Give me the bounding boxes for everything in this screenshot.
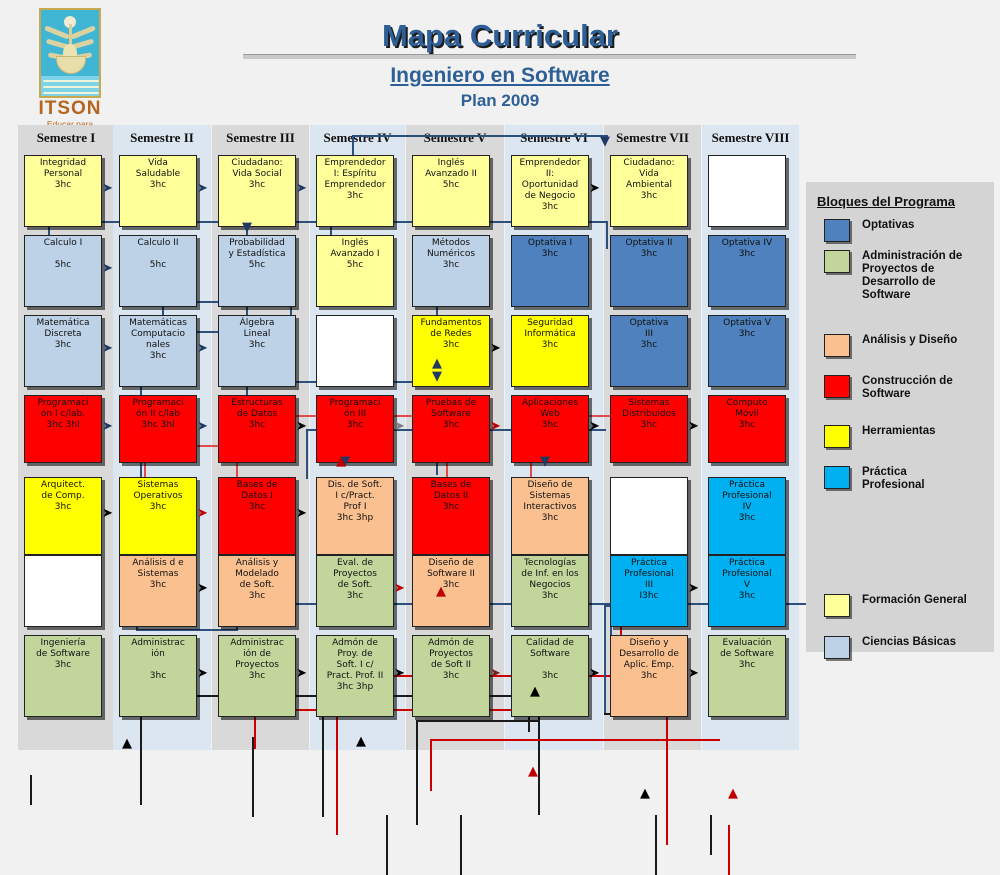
course-name: Diseño yDesarrollo deAplic. Emp.3hc	[611, 638, 687, 682]
course-name: VidaSaludable3hc	[120, 158, 196, 191]
course-box[interactable]: SeguridadInformática3hc	[511, 315, 589, 387]
flow-arrow-right: ➤	[490, 420, 501, 433]
semester-header-4: Semestre IV	[310, 125, 405, 150]
flow-arrow-right: ➤	[394, 667, 405, 680]
flow-arrow-right: ➤	[688, 667, 699, 680]
flow-arrow-right: ➤	[490, 667, 501, 680]
course-box[interactable]: Bases deDatos I3hc	[218, 477, 296, 555]
course-name: PrácticaProfesionalIV3hc	[709, 480, 785, 524]
course-name: SistemasDistribuidos3hc	[611, 398, 687, 431]
flow-arrow-right: ➤	[197, 667, 208, 680]
course-name: SistemasOperativos3hc	[120, 480, 196, 513]
course-box[interactable]: Administración deProyectos3hc	[218, 635, 296, 717]
flow-arrow-vertical: ▲	[640, 787, 650, 800]
connector-line	[430, 739, 720, 741]
connector-line	[606, 221, 608, 249]
course-name: Optativa IV3hc	[709, 238, 785, 260]
flow-arrow-right: ➤	[394, 582, 405, 595]
course-name: Análisis yModeladode Soft.3hc	[219, 558, 295, 602]
course-box[interactable]: CómputoMóvil3hc	[708, 395, 786, 463]
course-name: Diseño deSistemasInteractivos3hc	[512, 480, 588, 524]
course-box[interactable]: Programación III3hc	[316, 395, 394, 463]
course-box[interactable]: Programación I c/lab.3hc 3hl	[24, 395, 102, 463]
course-box[interactable]: Admón deProy. deSoft. I c/Pract. Prof. I…	[316, 635, 394, 717]
course-box[interactable]: Calculo I5hc	[24, 235, 102, 307]
course-box[interactable]: Admón deProyectosde Soft II3hc	[412, 635, 490, 717]
course-box[interactable]: PrácticaProfesionalV3hc	[708, 555, 786, 627]
legend-label: Formación General	[862, 594, 1000, 607]
course-box[interactable]: Ingenieríade Software3hc	[24, 635, 102, 717]
course-name: EmprendedorII:Oportunidadde Negocio3hc	[512, 158, 588, 213]
connector-line	[728, 825, 730, 875]
semester-header-8: Semestre VIII	[702, 125, 799, 150]
legend-label: Herramientas	[862, 425, 1000, 438]
flow-arrow-right: ➤	[394, 420, 405, 433]
course-box[interactable]: Bases deDatos II3hc	[412, 477, 490, 555]
semester-header-6: Semestre VI	[505, 125, 603, 150]
course-box[interactable]: Análisis yModeladode Soft.3hc	[218, 555, 296, 627]
course-box[interactable]: PrácticaProfesionalIV3hc	[708, 477, 786, 555]
course-box[interactable]: Probabilidady Estadística5hc	[218, 235, 296, 307]
course-box[interactable]: Pruebas deSoftware3hc	[412, 395, 490, 463]
course-name: IntegridadPersonal3hc	[25, 158, 101, 191]
connector-line	[416, 720, 418, 825]
legend-color-swatch	[824, 425, 850, 448]
course-name: Ciudadano:Vida Social3hc	[219, 158, 295, 191]
course-box[interactable]: SistemasDistribuidos3hc	[610, 395, 688, 463]
course-box[interactable]: Optativa II3hc	[610, 235, 688, 307]
legend-label: Construcción deSoftware	[862, 375, 1000, 401]
course-name: AplicacionesWeb3hc	[512, 398, 588, 431]
flow-arrow-vertical: ▼	[242, 221, 252, 234]
legend-label: PrácticaProfesional	[862, 466, 1000, 492]
flow-arrow-right: ➤	[102, 262, 113, 275]
course-name: Optativa I3hc	[512, 238, 588, 260]
course-box[interactable]: SistemasOperativos3hc	[119, 477, 197, 555]
course-name: Admón deProy. deSoft. I c/Pract. Prof. I…	[317, 638, 393, 693]
course-box[interactable]: IntegridadPersonal3hc	[24, 155, 102, 227]
curriculum-grid: Semestre ISemestre IISemestre IIISemestr…	[0, 125, 800, 750]
course-name: Tecnologíasde Inf. en losNegocios3hc	[512, 558, 588, 602]
page-subtitle: Ingeniero en Software	[0, 64, 1000, 88]
course-name: Programación III3hc	[317, 398, 393, 431]
flow-arrow-right: ➤	[197, 342, 208, 355]
connector-line	[416, 720, 540, 722]
course-name: Análisis d eSistemas3hc	[120, 558, 196, 591]
course-box[interactable]: MatemáticaDiscreta3hc	[24, 315, 102, 387]
connector-line	[386, 815, 388, 875]
flow-arrow-vertical: ▲	[122, 737, 132, 750]
course-name: Ciudadano:VidaAmbiental3hc	[611, 158, 687, 202]
course-box[interactable]: Administración3hc	[119, 635, 197, 717]
course-box[interactable]	[24, 555, 102, 627]
flow-arrow-right: ➤	[102, 342, 113, 355]
course-name: OptativaIII3hc	[611, 318, 687, 351]
course-box[interactable]: Arquitect.de Comp.3hc	[24, 477, 102, 555]
flow-arrow-vertical: ▲	[336, 455, 346, 468]
course-name: Optativa V3hc	[709, 318, 785, 340]
flow-arrow-right: ➤	[296, 507, 307, 520]
flow-arrow-vertical: ▼	[600, 135, 610, 148]
course-name: Admón deProyectosde Soft II3hc	[413, 638, 489, 682]
course-name: Dis. de Soft.I c/Pract.Prof I3hc 3hp	[317, 480, 393, 524]
flow-arrow-vertical: ▲	[356, 735, 366, 748]
flow-arrow-right: ➤	[296, 182, 307, 195]
course-name: Eval. deProyectosde Soft.3hc	[317, 558, 393, 602]
connector-line	[252, 737, 254, 817]
flow-arrow-right: ➤	[589, 182, 600, 195]
course-name: Fundamentosde Redes3hc	[413, 318, 489, 351]
semester-header-2: Semestre II	[113, 125, 211, 150]
legend-color-swatch	[824, 219, 850, 242]
course-name: Probabilidady Estadística5hc	[219, 238, 295, 271]
course-box[interactable]: PrácticaProfesionalIIII3hc	[610, 555, 688, 627]
legend-panel: Bloques del Programa OptativasAdministra…	[806, 182, 994, 652]
flow-arrow-vertical: ▼	[540, 455, 550, 468]
course-name: Ingenieríade Software3hc	[25, 638, 101, 671]
course-name: Calidad deSoftware3hc	[512, 638, 588, 682]
course-box[interactable]: Optativa V3hc	[708, 315, 786, 387]
flow-arrow-right: ➤	[589, 420, 600, 433]
course-name: Diseño deSoftware II3hc	[413, 558, 489, 591]
page-plan-year: Plan 2009	[0, 91, 1000, 111]
semester-header-5: Semestre V	[406, 125, 504, 150]
course-name: Estructurasde Datos3hc	[219, 398, 295, 431]
course-name: Calculo I5hc	[25, 238, 101, 271]
course-box[interactable]	[316, 315, 394, 387]
course-name: Evaluaciónde Software3hc	[709, 638, 785, 671]
course-box[interactable]: Tecnologíasde Inf. en losNegocios3hc	[511, 555, 589, 627]
connector-line	[30, 775, 32, 805]
course-name: CómputoMóvil3hc	[709, 398, 785, 431]
course-name: SeguridadInformática3hc	[512, 318, 588, 351]
page-header: ITSON Educar para Trascender Mapa Curric…	[0, 0, 1000, 125]
semester-header-1: Semestre I	[18, 125, 114, 150]
legend-color-swatch	[824, 250, 850, 273]
legend-color-swatch	[824, 375, 850, 398]
course-box[interactable]: Dis. de Soft.I c/Pract.Prof I3hc 3hp	[316, 477, 394, 555]
course-name: Bases deDatos I3hc	[219, 480, 295, 513]
flow-arrow-right: ➤	[102, 420, 113, 433]
course-box[interactable]: Ciudadano:VidaAmbiental3hc	[610, 155, 688, 227]
page-title: Mapa Curricular	[0, 18, 1000, 54]
flow-arrow-right: ➤	[490, 342, 501, 355]
course-name: MétodosNuméricos3hc	[413, 238, 489, 271]
course-box[interactable]: InglésAvanzado II5hc	[412, 155, 490, 227]
legend-label: Análisis y Diseño	[862, 334, 1000, 347]
course-name: Programación II c/lab3hc 3hl	[120, 398, 196, 431]
course-name: Calculo II5hc	[120, 238, 196, 271]
course-box[interactable]: Eval. deProyectosde Soft.3hc	[316, 555, 394, 627]
connector-line	[655, 815, 657, 875]
connector-line	[254, 709, 554, 711]
course-name: MatemáticaDiscreta3hc	[25, 318, 101, 351]
legend-label: Ciencias Básicas	[862, 636, 1000, 649]
course-box[interactable]: Calidad deSoftware3hc	[511, 635, 589, 717]
course-box[interactable]: VidaSaludable3hc	[119, 155, 197, 227]
flow-arrow-right: ➤	[688, 582, 699, 595]
course-name: Administración3hc	[120, 638, 196, 682]
connector-line	[306, 429, 308, 479]
legend-color-swatch	[824, 466, 850, 489]
connector-line	[430, 739, 432, 791]
course-box[interactable]: MatemáticasComputacionales3hc	[119, 315, 197, 387]
course-box[interactable]: InglésAvanzado I5hc	[316, 235, 394, 307]
flow-arrow-right: ➤	[296, 667, 307, 680]
connector-line	[710, 815, 712, 855]
legend-label: Administración deProyectos deDesarrollo …	[862, 250, 1000, 302]
course-box[interactable]: Programación II c/lab3hc 3hl	[119, 395, 197, 463]
course-name: ÁlgebraLineal3hc	[219, 318, 295, 351]
course-name: PrácticaProfesionalV3hc	[709, 558, 785, 602]
course-box[interactable]: AplicacionesWeb3hc	[511, 395, 589, 463]
connector-line	[136, 629, 236, 631]
course-box[interactable]: Diseño yDesarrollo deAplic. Emp.3hc	[610, 635, 688, 717]
connector-line	[604, 605, 606, 715]
course-box[interactable]: Optativa I3hc	[511, 235, 589, 307]
course-box[interactable]: Ciudadano:Vida Social3hc	[218, 155, 296, 227]
course-box[interactable]: OptativaIII3hc	[610, 315, 688, 387]
semester-header-7: Semestre VII	[604, 125, 701, 150]
course-box[interactable]: Diseño deSistemasInteractivos3hc	[511, 477, 589, 555]
legend-title: Bloques del Programa	[817, 194, 955, 209]
flow-arrow-right: ➤	[296, 420, 307, 433]
course-box[interactable]: ÁlgebraLineal3hc	[218, 315, 296, 387]
course-box[interactable]: Optativa IV3hc	[708, 235, 786, 307]
flow-arrow-vertical: ▲	[436, 585, 446, 598]
flow-arrow-vertical: ▲	[530, 685, 540, 698]
connector-line	[352, 135, 608, 137]
flow-arrow-right: ➤	[197, 420, 208, 433]
course-name: Programación I c/lab.3hc 3hl	[25, 398, 101, 431]
course-box[interactable]	[708, 155, 786, 227]
course-box[interactable]: Análisis d eSistemas3hc	[119, 555, 197, 627]
course-box[interactable]: Fundamentosde Redes3hc	[412, 315, 490, 387]
course-name: InglésAvanzado II5hc	[413, 158, 489, 191]
legend-color-swatch	[824, 594, 850, 617]
course-box[interactable]: EmprendedorI: EspírituEmprendedor3hc	[316, 155, 394, 227]
course-box[interactable]: Calculo II5hc	[119, 235, 197, 307]
legend-label: Optativas	[862, 219, 1000, 232]
course-box[interactable]	[610, 477, 688, 555]
semester-header-3: Semestre III	[212, 125, 309, 150]
course-name: Optativa II3hc	[611, 238, 687, 260]
course-box[interactable]: MétodosNuméricos3hc	[412, 235, 490, 307]
flow-arrow-right: ➤	[197, 182, 208, 195]
course-box[interactable]: Estructurasde Datos3hc	[218, 395, 296, 463]
title-divider	[243, 54, 856, 59]
course-name: Administración deProyectos3hc	[219, 638, 295, 682]
flow-arrow-right: ➤	[102, 182, 113, 195]
flow-arrow-right: ➤	[688, 420, 699, 433]
course-box[interactable]: EmprendedorII:Oportunidadde Negocio3hc	[511, 155, 589, 227]
flow-arrow-right: ➤	[197, 507, 208, 520]
course-name: InglésAvanzado I5hc	[317, 238, 393, 271]
flow-arrow-right: ➤	[589, 667, 600, 680]
course-name: Arquitect.de Comp.3hc	[25, 480, 101, 513]
course-box[interactable]: Evaluaciónde Software3hc	[708, 635, 786, 717]
course-name: MatemáticasComputacionales3hc	[120, 318, 196, 362]
flow-arrow-vertical: ▲	[728, 787, 738, 800]
course-name: Pruebas deSoftware3hc	[413, 398, 489, 431]
connector-line	[460, 815, 462, 875]
flow-arrow-vertical: ▼	[432, 370, 442, 383]
legend-color-swatch	[824, 334, 850, 357]
flow-arrow-right: ➤	[197, 582, 208, 595]
course-name: Bases deDatos II3hc	[413, 480, 489, 513]
legend-color-swatch	[824, 636, 850, 659]
flow-arrow-vertical: ▲	[528, 765, 538, 778]
course-name: PrácticaProfesionalIIII3hc	[611, 558, 687, 602]
course-name: EmprendedorI: EspírituEmprendedor3hc	[317, 158, 393, 202]
course-box[interactable]: Diseño deSoftware II3hc	[412, 555, 490, 627]
flow-arrow-right: ➤	[102, 507, 113, 520]
